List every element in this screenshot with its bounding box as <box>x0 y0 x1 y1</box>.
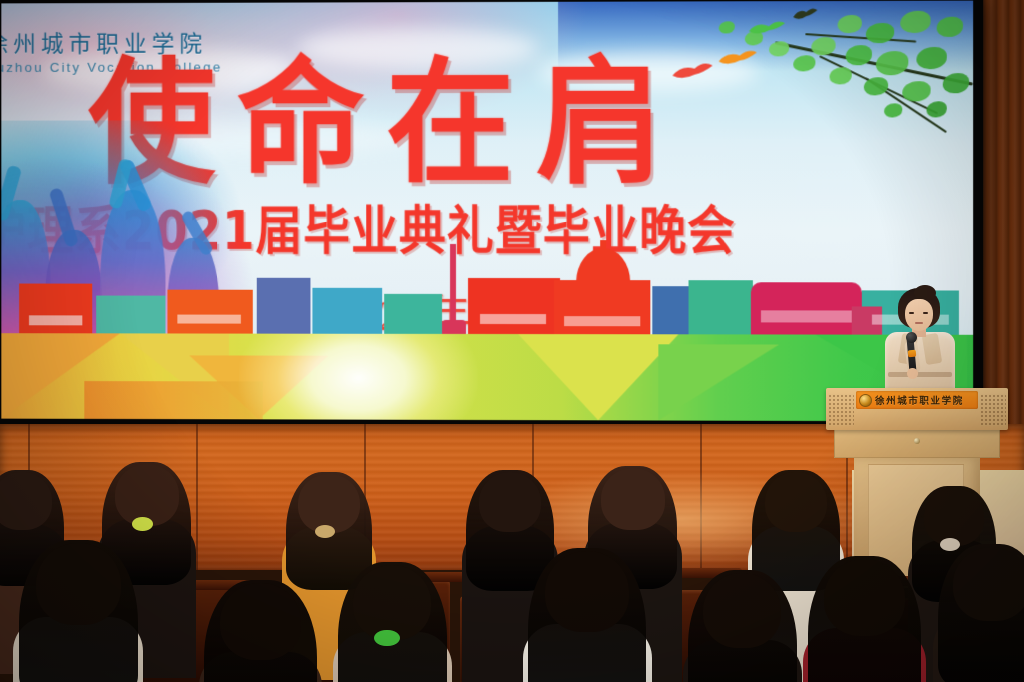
podium-speaker-grille-left <box>828 394 854 426</box>
audience-member-head <box>545 551 629 632</box>
bird-green-icon <box>747 17 787 44</box>
audience-member-head <box>824 559 904 637</box>
stage-photo-scene: 徐州城市职业学院 Xuzhou City Vocation College 使命… <box>0 0 1024 682</box>
audience-member <box>330 562 455 682</box>
bird-dark-icon <box>791 5 819 28</box>
audience-member-head <box>220 583 300 661</box>
led-screen-frame: 徐州城市职业学院 Xuzhou City Vocation College 使命… <box>0 0 983 429</box>
city-skyline-graphic <box>1 220 973 337</box>
podium-speaker-grille-right <box>980 394 1006 426</box>
audience-member <box>930 544 1024 682</box>
audience-member-head <box>298 474 359 533</box>
school-crest-icon <box>859 394 872 407</box>
audience-member <box>196 580 325 682</box>
audience-member <box>10 540 146 682</box>
audience-member-head <box>36 543 121 625</box>
audience-member <box>680 570 805 682</box>
led-screen: 徐州城市职业学院 Xuzhou City Vocation College 使命… <box>1 1 973 422</box>
audience-member-head <box>765 472 827 532</box>
audience-member-head <box>479 472 541 532</box>
audience-member <box>800 556 929 682</box>
presenter-hand <box>907 368 918 379</box>
presenter-face <box>905 299 933 331</box>
podium-sign-text: 徐州城市职业学院 <box>875 393 964 407</box>
microphone-band <box>907 350 916 358</box>
podium-top: 徐州城市职业学院 <box>826 388 1008 430</box>
bird-orange-icon <box>717 45 759 74</box>
audience-member <box>520 548 654 682</box>
sun-glow-effect <box>239 333 478 421</box>
audience-member-head <box>953 547 1024 621</box>
podium-sign: 徐州城市职业学院 <box>856 391 978 409</box>
presenter-belt <box>888 372 952 377</box>
podium-knob <box>914 438 920 444</box>
audience-member-head <box>703 573 781 648</box>
presenter-figure <box>872 288 964 396</box>
audience-member-head <box>924 488 984 546</box>
audience-member-head <box>601 468 665 529</box>
audience-member-head <box>353 565 431 640</box>
microphone-head <box>906 332 917 343</box>
audience-member-head <box>0 472 52 530</box>
audience-member-hair-tie <box>132 517 153 531</box>
audience-member-head <box>115 464 179 525</box>
